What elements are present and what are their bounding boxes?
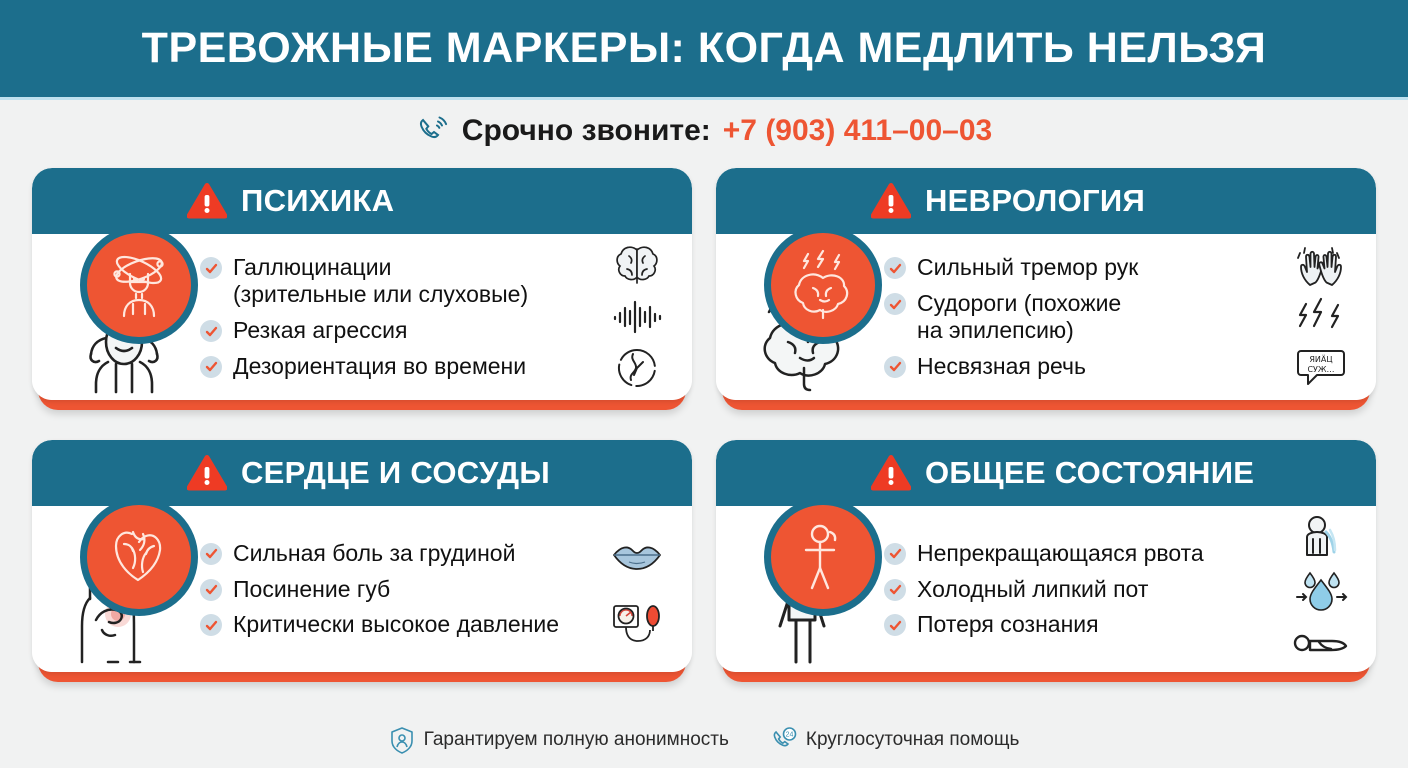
- check-icon: [884, 614, 906, 636]
- check-icon: [200, 579, 222, 601]
- list-item-label: Потеря сознания: [917, 611, 1099, 638]
- phone-24h-icon: 24: [771, 726, 797, 754]
- page-header: ТРЕВОЖНЫЕ МАРКЕРЫ: КОГДА МЕДЛИТЬ НЕЛЬЗЯ: [0, 0, 1408, 100]
- list-item-label: Резкая агрессия: [233, 317, 407, 344]
- person-lying-down-icon: [1293, 617, 1349, 663]
- card-neurology: НЕВРОЛОГИЯ: [716, 168, 1376, 400]
- page-title: ТРЕВОЖНЫЕ МАРКЕРЫ: КОГДА МЕДЛИТЬ НЕЛЬЗЯ: [142, 27, 1267, 70]
- card-header: СЕРДЦЕ И СОСУДЫ: [32, 440, 692, 506]
- list-item: Сильный тремор рук: [884, 254, 1276, 281]
- check-icon: [200, 614, 222, 636]
- brain-top-icon: [609, 243, 665, 289]
- phone-callout: Срочно звоните: +7 (903) 411–00–03: [0, 100, 1408, 162]
- footer-item-anonymity: Гарантируем полную анонимность: [389, 726, 729, 754]
- list-item-label: Холодный липкий пот: [917, 576, 1148, 603]
- list-item-label: Судороги (похожие на эпилепсию): [917, 290, 1121, 344]
- dizzy-head-icon: [80, 226, 198, 344]
- garbled-speech-bubble-icon: ЯИÄЦ СУЖ…: [1293, 345, 1349, 391]
- shield-person-icon: [389, 726, 415, 754]
- check-icon: [200, 543, 222, 565]
- phone-number[interactable]: +7 (903) 411–00–03: [723, 114, 992, 148]
- card-side-icons: ЯИÄЦ СУЖ…: [1284, 238, 1358, 396]
- list-item-label: Сильная боль за грудиной: [233, 540, 515, 567]
- check-icon: [200, 257, 222, 279]
- check-icon: [884, 579, 906, 601]
- list-item-label: Критически высокое давление: [233, 611, 559, 638]
- phone-label: Срочно звоните:: [462, 114, 711, 148]
- warning-triangle-icon: [871, 183, 911, 219]
- list-item: Галлюцинации (зрительные или слуховые): [200, 254, 592, 308]
- list-item-label: Галлюцинации (зрительные или слуховые): [233, 254, 528, 308]
- list-item-label: Сильный тремор рук: [917, 254, 1138, 281]
- card-title: СЕРДЦЕ И СОСУДЫ: [241, 455, 550, 491]
- symptom-cards-grid: ПСИХИКА: [0, 162, 1408, 690]
- list-item: Критически высокое давление: [200, 611, 592, 638]
- list-item-label: Непрекращающаяся рвота: [917, 540, 1204, 567]
- footer-item-label: Гарантируем полную анонимность: [424, 729, 729, 751]
- card-header: НЕВРОЛОГИЯ: [716, 168, 1376, 234]
- check-icon: [884, 293, 906, 315]
- heart-anatomy-icon: [80, 498, 198, 616]
- broken-clock-icon: [609, 345, 665, 391]
- card-side-icons: [600, 510, 674, 668]
- symptom-list: Сильный тремор рук Судороги (похожие на …: [884, 234, 1276, 400]
- brain-lightning-icon: [764, 226, 882, 344]
- card-general-condition: ОБЩЕЕ СОСТОЯНИЕ: [716, 440, 1376, 672]
- page-footer: Гарантируем полную анонимность 24 Кругло…: [0, 726, 1408, 754]
- blue-lips-icon: [609, 532, 665, 578]
- card-header: ОБЩЕЕ СОСТОЯНИЕ: [716, 440, 1376, 506]
- card-header: ПСИХИКА: [32, 168, 692, 234]
- card-body: Сильная боль за грудиной Посинение губ К…: [32, 506, 692, 672]
- check-icon: [884, 356, 906, 378]
- svg-text:СУЖ…: СУЖ…: [1307, 365, 1334, 374]
- card-psyche: ПСИХИКА: [32, 168, 692, 400]
- card-side-icons: [600, 238, 674, 396]
- card-body: Сильный тремор рук Судороги (похожие на …: [716, 234, 1376, 400]
- check-icon: [884, 543, 906, 565]
- list-item: Холодный липкий пот: [884, 576, 1276, 603]
- list-item: Несвязная речь: [884, 353, 1276, 380]
- sound-wave-icon: [609, 294, 665, 340]
- blood-pressure-monitor-icon: [609, 600, 665, 646]
- svg-text:24: 24: [785, 732, 793, 739]
- list-item: Судороги (похожие на эпилепсию): [884, 290, 1276, 344]
- card-heart-vessels: СЕРДЦЕ И СОСУДЫ: [32, 440, 692, 672]
- phone-call-icon: [416, 114, 450, 148]
- card-title: НЕВРОЛОГИЯ: [925, 183, 1145, 219]
- card-side-icons: [1284, 510, 1358, 668]
- shaking-hands-icon: [1293, 243, 1349, 289]
- list-item-label: Дезориентация во времени: [233, 353, 526, 380]
- symptom-list: Непрекращающаяся рвота Холодный липкий п…: [884, 506, 1276, 672]
- list-item: Резкая агрессия: [200, 317, 592, 344]
- warning-triangle-icon: [871, 455, 911, 491]
- list-item-label: Посинение губ: [233, 576, 390, 603]
- svg-text:ЯИÄЦ: ЯИÄЦ: [1309, 354, 1332, 364]
- check-icon: [200, 320, 222, 342]
- symptom-list: Сильная боль за грудиной Посинение губ К…: [200, 506, 592, 672]
- card-body: Непрекращающаяся рвота Холодный липкий п…: [716, 506, 1376, 672]
- list-item: Потеря сознания: [884, 611, 1276, 638]
- person-vomiting-icon: [1293, 515, 1349, 561]
- symptom-list: Галлюцинации (зрительные или слуховые) Р…: [200, 234, 592, 400]
- list-item: Посинение губ: [200, 576, 592, 603]
- sweat-drops-icon: [1293, 566, 1349, 612]
- card-body: Галлюцинации (зрительные или слуховые) Р…: [32, 234, 692, 400]
- list-item: Непрекращающаяся рвота: [884, 540, 1276, 567]
- person-unwell-icon: [764, 498, 882, 616]
- card-title: ПСИХИКА: [241, 183, 394, 219]
- list-item-label: Несвязная речь: [917, 353, 1086, 380]
- list-item: Сильная боль за грудиной: [200, 540, 592, 567]
- card-title: ОБЩЕЕ СОСТОЯНИЕ: [925, 455, 1254, 491]
- warning-triangle-icon: [187, 183, 227, 219]
- warning-triangle-icon: [187, 455, 227, 491]
- check-icon: [884, 257, 906, 279]
- lightning-bolts-icon: [1293, 294, 1349, 340]
- footer-item-24h: 24 Круглосуточная помощь: [771, 726, 1019, 754]
- check-icon: [200, 356, 222, 378]
- footer-item-label: Круглосуточная помощь: [806, 729, 1019, 751]
- list-item: Дезориентация во времени: [200, 353, 592, 380]
